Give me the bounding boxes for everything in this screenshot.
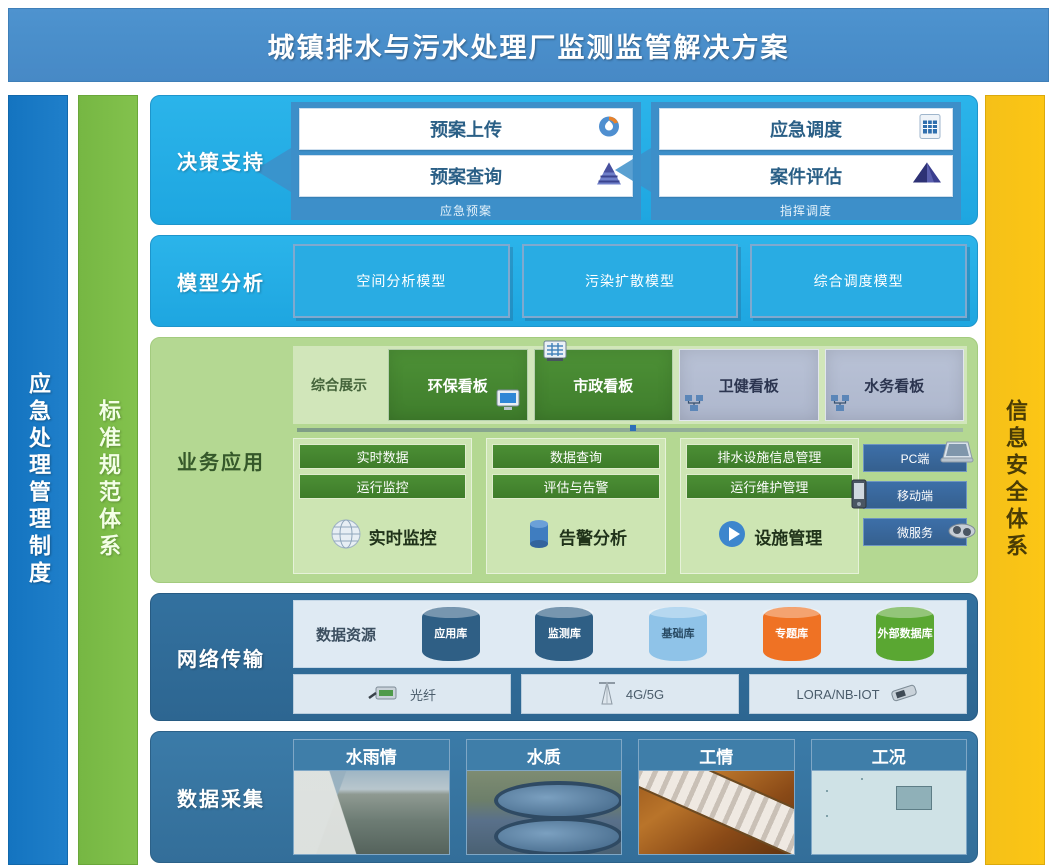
model-items: 空间分析模型 污染扩散模型 综合调度模型 [293, 244, 967, 318]
model-item-comprehensive-dispatch[interactable]: 综合调度模型 [750, 244, 967, 318]
kanban-water-affairs[interactable]: 水务看板 [825, 349, 965, 421]
model-item-spatial[interactable]: 空间分析模型 [293, 244, 510, 318]
cylinder-icon: 应用库 [422, 607, 480, 661]
dashboard-row: 综合展示 环保看板 市政看板 [293, 346, 967, 424]
business-columns: 实时数据 运行监控 实时监控 [293, 438, 859, 574]
cylinder-icon: 专题库 [763, 607, 821, 661]
grid-table-icon [918, 114, 942, 145]
business-footer-alarm-analysis[interactable]: 告警分析 [492, 504, 659, 568]
database-icon [525, 518, 553, 555]
play-icon [716, 518, 748, 555]
database-thematic[interactable]: 专题库 [737, 607, 847, 661]
photo-operating-condition [812, 771, 967, 854]
decision-group-caption: 应急预案 [299, 202, 633, 219]
channel-label: 4G/5G [626, 687, 664, 702]
client-label: 微服务 [897, 524, 933, 541]
database-label: 监测库 [548, 628, 581, 641]
section-network-transmission: 网络传输 数据资源 应用库 监测库 基础库 [150, 593, 978, 721]
pillar-information-security: 信息安全体系 [985, 95, 1045, 865]
section-label-model: 模型分析 [151, 236, 291, 326]
section-label-decision: 决策支持 [151, 96, 291, 224]
section-decision-support: 决策支持 预案上传 [150, 95, 978, 225]
decision-item-label: 应急调度 [770, 116, 842, 142]
collection-card-engineering[interactable]: 工情 [638, 739, 795, 855]
database-external[interactable]: 外部数据库 [850, 607, 960, 661]
antenna-icon [596, 680, 618, 709]
arrow-pointer-icon [615, 148, 651, 192]
decision-group-caption: 指挥调度 [659, 202, 953, 219]
main-column: 决策支持 预案上传 [150, 95, 978, 863]
database-label: 外部数据库 [878, 628, 933, 641]
globe-icon [329, 517, 363, 556]
business-item[interactable]: 运行监控 [299, 474, 466, 499]
pyramid-dark-icon [912, 162, 942, 191]
database-label: 基础库 [661, 628, 694, 641]
photo-rainfall [294, 771, 449, 854]
page-title: 城镇排水与污水处理厂监测监管解决方案 [268, 26, 790, 65]
client-label: PC端 [901, 450, 930, 467]
data-resources-row: 数据资源 应用库 监测库 基础库 [293, 600, 967, 668]
client-pc[interactable]: PC端 [863, 444, 967, 472]
kanban-label: 水务看板 [864, 375, 924, 396]
title-banner: 城镇排水与污水处理厂监测监管解决方案 [8, 8, 1049, 82]
model-item-pollution-diffusion[interactable]: 污染扩散模型 [522, 244, 739, 318]
decision-item-label: 预案上传 [430, 116, 502, 142]
decision-item-label: 预案查询 [430, 163, 502, 189]
business-column-alarm: 数据查询 评估与告警 告警分析 [486, 438, 665, 574]
business-footer-facility-management[interactable]: 设施管理 [686, 504, 853, 568]
photo-water-quality [467, 771, 622, 854]
cylinder-icon: 基础库 [649, 607, 707, 661]
client-microservice[interactable]: 微服务 [863, 518, 967, 546]
pillar-emergency-management: 应急处理管理制度 [8, 95, 68, 865]
section-business-application: 业务应用 综合展示 环保看板 市政看板 [150, 337, 978, 583]
section-data-collection: 数据采集 水雨情 水质 工情 工况 [150, 731, 978, 863]
kanban-environment[interactable]: 环保看板 [388, 349, 528, 421]
database-basic[interactable]: 基础库 [623, 607, 733, 661]
client-mobile[interactable]: 移动端 [863, 481, 967, 509]
underline-marker-icon [630, 425, 636, 431]
business-column-facility: 排水设施信息管理 运行维护管理 设施管理 [680, 438, 859, 574]
business-footer-realtime-monitoring[interactable]: 实时监控 [299, 504, 466, 568]
section-label-business: 业务应用 [151, 338, 291, 582]
client-label: 移动端 [897, 487, 933, 504]
business-item[interactable]: 运行维护管理 [686, 474, 853, 499]
cylinder-icon: 监测库 [535, 607, 593, 661]
decision-item-label: 案件评估 [770, 163, 842, 189]
section-label-collection: 数据采集 [151, 732, 291, 862]
cylinder-icon: 外部数据库 [876, 607, 934, 661]
collection-card-label: 水质 [467, 740, 622, 771]
mobile-icon [850, 479, 868, 512]
business-item[interactable]: 数据查询 [492, 444, 659, 469]
collection-card-label: 水雨情 [294, 740, 449, 771]
channel-fiber[interactable]: 光纤 [293, 674, 511, 714]
collection-card-operating-condition[interactable]: 工况 [811, 739, 968, 855]
business-footer-label: 告警分析 [559, 524, 627, 549]
kanban-health[interactable]: 卫健看板 [679, 349, 819, 421]
kanban-label: 卫健看板 [719, 375, 779, 396]
channel-cellular[interactable]: 4G/5G [521, 674, 739, 714]
fiber-icon [368, 682, 402, 707]
upload-cycle-icon [596, 114, 622, 145]
database-monitoring[interactable]: 监测库 [510, 607, 620, 661]
decision-item-case-assessment[interactable]: 案件评估 [659, 155, 953, 197]
section-model-analysis: 模型分析 空间分析模型 污染扩散模型 综合调度模型 [150, 235, 978, 327]
diagram-canvas: 城镇排水与污水处理厂监测监管解决方案 应急处理管理制度 标准规范体系 信息安全体… [0, 0, 1055, 868]
sensor-icon [888, 682, 920, 707]
database-label: 专题库 [775, 628, 808, 641]
channel-label: LORA/NB-IOT [796, 687, 879, 702]
kanban-label: 环保看板 [428, 375, 488, 396]
business-item[interactable]: 排水设施信息管理 [686, 444, 853, 469]
network-icon [684, 394, 704, 416]
collection-cards: 水雨情 水质 工情 工况 [293, 739, 967, 855]
monitor-icon [495, 388, 521, 416]
dashboard-underline [297, 428, 963, 432]
decision-item-plan-upload[interactable]: 预案上传 [299, 108, 633, 150]
network-icon [830, 394, 850, 416]
kanban-label: 市政看板 [573, 375, 633, 396]
business-item[interactable]: 实时数据 [299, 444, 466, 469]
collection-card-label: 工情 [639, 740, 794, 771]
laptop-icon [940, 439, 974, 468]
business-footer-label: 实时监控 [369, 524, 437, 549]
decision-group-command-dispatch: 应急调度 [651, 102, 961, 220]
decision-group-emergency-plan: 预案上传 预案查询 [291, 102, 641, 220]
decision-item-plan-query[interactable]: 预案查询 [299, 155, 633, 197]
kanban-municipal[interactable]: 市政看板 [534, 349, 674, 421]
pillar-standards-system: 标准规范体系 [78, 95, 138, 865]
decision-item-emergency-dispatch[interactable]: 应急调度 [659, 108, 953, 150]
service-icon [946, 517, 978, 546]
database-app[interactable]: 应用库 [396, 607, 506, 661]
collection-card-label: 工况 [812, 740, 967, 771]
database-label: 应用库 [434, 628, 467, 641]
building-icon [541, 338, 569, 368]
business-column-monitoring: 实时数据 运行监控 实时监控 [293, 438, 472, 574]
section-label-network: 网络传输 [151, 594, 291, 720]
business-footer-label: 设施管理 [754, 524, 822, 549]
channel-label: 光纤 [410, 685, 436, 704]
data-resources-label: 数据资源 [300, 624, 392, 645]
business-item[interactable]: 评估与告警 [492, 474, 659, 499]
collection-card-water-quality[interactable]: 水质 [466, 739, 623, 855]
photo-engineering [639, 771, 794, 854]
collection-card-rainfall[interactable]: 水雨情 [293, 739, 450, 855]
overview-label: 综合展示 [296, 349, 382, 421]
channel-lora[interactable]: LORA/NB-IOT [749, 674, 967, 714]
client-endpoints: PC端 移动端 [863, 442, 967, 572]
decision-body: 预案上传 预案查询 [291, 96, 969, 224]
transmission-channels: 光纤 4G/5G LORA/NB-IOT [293, 674, 967, 714]
